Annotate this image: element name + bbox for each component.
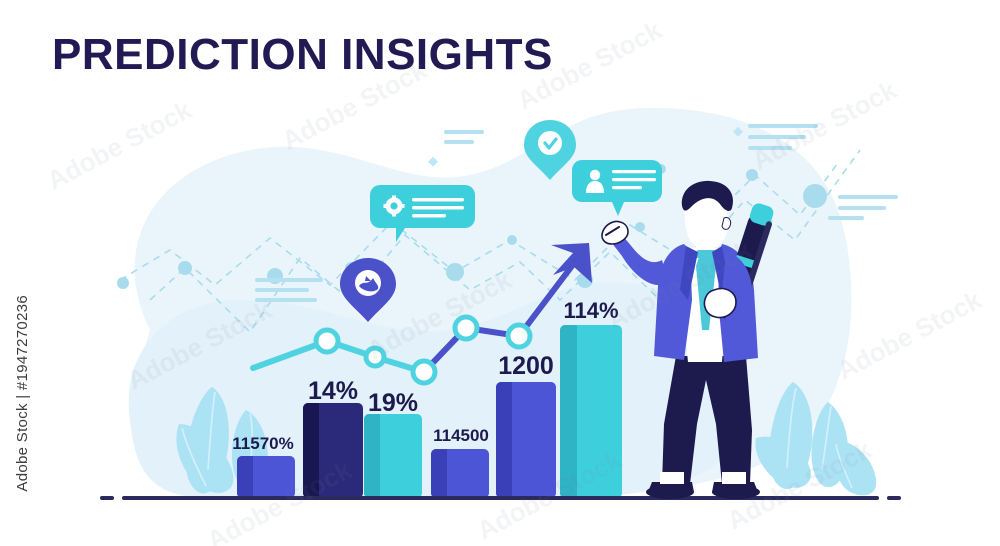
bar-label-3: 19%: [368, 389, 418, 418]
stock-credit-watermark: Adobe Stock | #1947270236: [14, 295, 31, 492]
bar-label-4: 114500: [433, 426, 489, 446]
illustration-canvas: PREDICTION INSIGHTS 11570% 14% 19% 11450…: [0, 0, 1000, 546]
bubble-gear[interactable]: [370, 185, 475, 242]
bar-label-1: 11570%: [232, 434, 293, 454]
artboard: PREDICTION INSIGHTS 11570% 14% 19% 11450…: [0, 0, 1000, 546]
page-title: PREDICTION INSIGHTS: [52, 30, 553, 80]
bubble-user[interactable]: [572, 160, 662, 216]
bar-label-2: 14%: [308, 377, 358, 406]
check-pin-icon[interactable]: [524, 120, 576, 180]
bar-label-5: 1200: [498, 352, 554, 381]
bar-label-6: 114%: [563, 298, 618, 324]
globe-pin-icon[interactable]: [340, 258, 396, 322]
annotation-layer: [0, 0, 1000, 546]
